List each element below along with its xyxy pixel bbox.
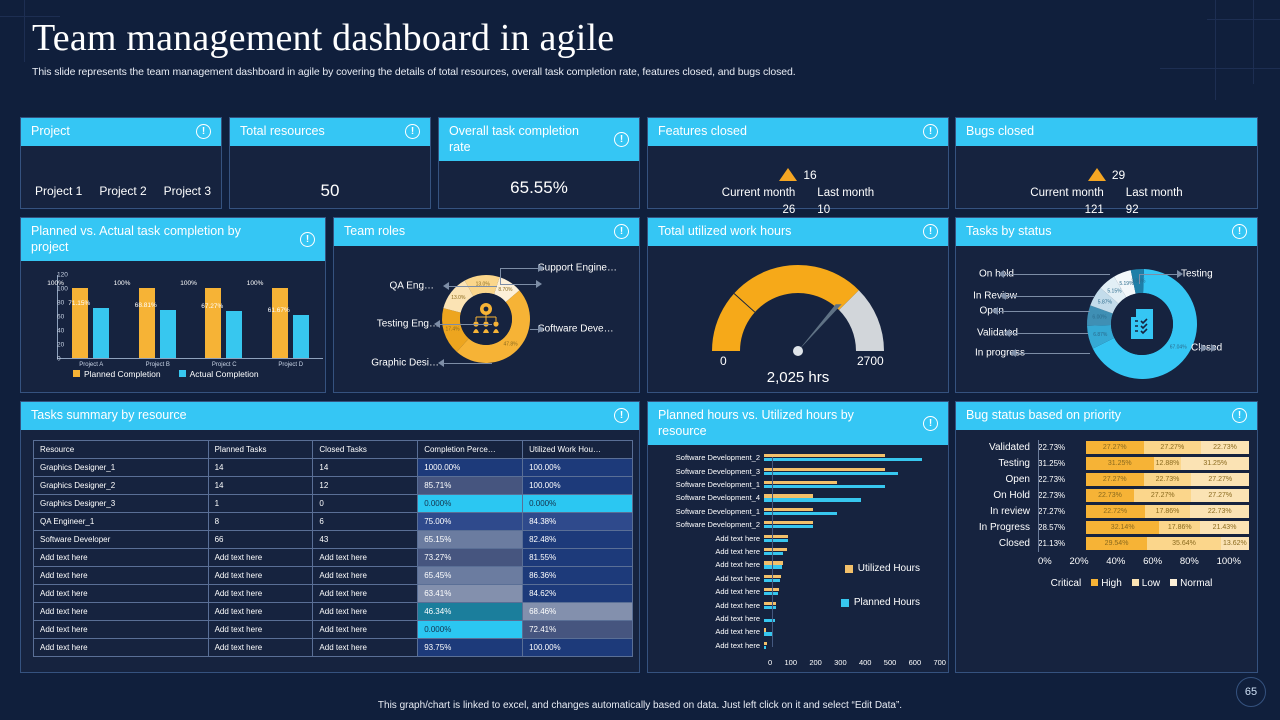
hbar-planned: [764, 458, 922, 461]
planned-vs-actual-chart: Project AProject BProject CProject D Pla…: [21, 261, 325, 397]
bugs-current-label: Current month: [1030, 187, 1104, 199]
bugs-delta-value: 29: [1112, 168, 1125, 182]
table-cell: 1: [208, 494, 313, 512]
stacked-segment: 27.27%: [1134, 489, 1192, 502]
table-cell: 1000.00%: [418, 458, 523, 476]
stacked-segment: 35.64%: [1147, 537, 1221, 550]
table-cell: 65.15%: [418, 530, 523, 548]
hbar-bars: [764, 467, 934, 476]
hbar-category-label: Add text here: [656, 627, 764, 636]
hbar-category-label: Add text here: [656, 614, 764, 623]
hbar-category-label: Add text here: [656, 560, 764, 569]
hbar-planned: [764, 485, 885, 488]
stacked-segment: 22.73%: [1086, 489, 1134, 502]
kpi-card-completion-rate: Overall task completion rate ! 65.55%: [438, 117, 640, 209]
stacked-segment: 22.73%: [1201, 441, 1249, 454]
stacked-segment: 31.25%: [1086, 457, 1154, 470]
stacked-x-tick: 40%: [1106, 556, 1125, 567]
leader-line: [444, 363, 492, 364]
stacked-bar: 27.27%27.27%22.73%: [1086, 441, 1249, 454]
hbar-row: Add text here: [656, 641, 934, 650]
hbar-utilized: [764, 602, 776, 605]
table-cell: 0.000%: [523, 494, 633, 512]
completion-rate-value: 65.55%: [510, 178, 568, 198]
legend-item: Normal: [1170, 578, 1212, 589]
panel-tasks-summary-header: Tasks summary by resource !: [21, 402, 639, 430]
decorative-line-vertical-2: [1253, 0, 1254, 84]
hbar-utilized: [764, 561, 783, 564]
legend-item: Critical: [1051, 578, 1082, 589]
table-row[interactable]: Add text hereAdd text hereAdd text here6…: [34, 584, 633, 602]
stacked-segment: 21.43%: [1200, 521, 1249, 534]
hbar-bars: [764, 628, 934, 637]
table-row[interactable]: Add text hereAdd text hereAdd text here0…: [34, 620, 633, 638]
kpi-card-completion-rate-body: 65.55%: [439, 161, 639, 215]
stacked-bar: 32.14%17.86%21.43%: [1086, 521, 1249, 534]
kpi-card-bugs-closed-title: Bugs closed: [966, 124, 1034, 140]
table-row[interactable]: Software Developer664365.15%82.48%: [34, 530, 633, 548]
hbar-planned: [764, 619, 775, 622]
panel-tasks-summary-title: Tasks summary by resource: [31, 408, 187, 424]
stacked-category-label: Closed: [962, 538, 1038, 549]
kpi-card-features-closed-title: Features closed: [658, 124, 747, 140]
bar-value-label: 100%: [247, 280, 264, 287]
kpi-card-project-title: Project: [31, 124, 70, 140]
table-row[interactable]: Graphics Designer_3100.000%0.000%: [34, 494, 633, 512]
bug-status-chart: Validated22.73%27.27%27.27%22.73%Testing…: [956, 430, 1257, 670]
hbar-planned: [764, 552, 783, 555]
team-roles-donut: 8.70%47.8%17.4%13.0%13.0%Support Engine……: [334, 246, 639, 396]
stacked-row: Open22.73%27.27%22.73%27.27%: [962, 472, 1249, 487]
hbar-row: Add text here: [656, 574, 934, 583]
team-icon: [460, 293, 512, 345]
table-column-header[interactable]: Utilized Work Hou…: [523, 440, 633, 458]
project-item[interactable]: Project 1: [35, 184, 82, 198]
stacked-segment: 27.27%: [1086, 473, 1144, 486]
project-item[interactable]: Project 3: [164, 184, 211, 198]
table-cell: Add text here: [34, 548, 209, 566]
table-cell: 14: [208, 458, 313, 476]
panel-planned-vs-actual-header: Planned vs. Actual task completion by pr…: [21, 218, 325, 261]
panel-tasks-by-status: Tasks by status ! 67.04%6.87%6.00%5.87%5…: [955, 217, 1258, 393]
hbar-row: Software Development_2: [656, 453, 934, 462]
panel-planned-vs-actual-title: Planned vs. Actual task completion by pr…: [31, 224, 271, 255]
bar-planned: [272, 288, 288, 358]
leader-line: [1006, 296, 1094, 297]
gauge-min-label: 0: [720, 354, 727, 368]
leader-line: [449, 286, 497, 287]
panel-utilized-hours-title: Total utilized work hours: [658, 224, 791, 240]
bar-chart-area: Project AProject BProject CProject D Pla…: [33, 271, 329, 381]
hbar-x-axis: 0100200300400500600700: [768, 658, 946, 667]
label-software-developer: Software Deve…: [538, 323, 614, 334]
info-icon[interactable]: !: [405, 124, 420, 139]
hbar-bars: [764, 534, 934, 543]
leader-line: [440, 324, 492, 325]
stacked-x-tick: 80%: [1180, 556, 1199, 567]
page-number-badge: 65: [1236, 677, 1266, 707]
table-column-header[interactable]: Closed Tasks: [313, 440, 418, 458]
hbar-x-tick: 500: [884, 658, 897, 667]
table-row[interactable]: Add text hereAdd text hereAdd text here9…: [34, 638, 633, 656]
table-cell: Add text here: [34, 602, 209, 620]
stacked-critical-label: 22.73%: [1038, 475, 1086, 484]
table-row[interactable]: Add text hereAdd text hereAdd text here7…: [34, 548, 633, 566]
stacked-x-tick: 60%: [1143, 556, 1162, 567]
info-icon[interactable]: !: [196, 124, 211, 139]
donut-value-label: 13.0%: [451, 295, 466, 301]
legend-actual: Actual Completion: [179, 369, 259, 379]
label-testing: Testing: [1181, 268, 1213, 279]
table-row[interactable]: Graphics Designer_114141000.00%100.00%: [34, 458, 633, 476]
features-compare-row: Current month 26 Last month 10: [648, 185, 948, 220]
info-icon[interactable]: !: [1232, 408, 1247, 423]
table-cell: Add text here: [34, 638, 209, 656]
leader-arrow: [998, 270, 1004, 278]
table-cell: 100.00%: [523, 476, 633, 494]
hbar-category-label: Add text here: [656, 601, 764, 610]
hbar-planned: [764, 498, 861, 501]
hbar-planned: [764, 539, 788, 542]
label-testing-engineer: Testing Eng…: [377, 318, 439, 329]
stacked-category-label: Validated: [962, 442, 1038, 453]
hbar-x-tick: 300: [834, 658, 847, 667]
panel-planned-vs-utilized-header: Planned hours vs. Utilized hours by reso…: [648, 402, 948, 445]
table-cell: 81.55%: [523, 548, 633, 566]
leader-line: [1016, 353, 1090, 354]
table-cell: 84.38%: [523, 512, 633, 530]
decorative-line-horizontal-1: [1207, 19, 1280, 20]
tasks-summary-table[interactable]: ResourcePlanned TasksClosed TasksComplet…: [33, 440, 633, 657]
stacked-segment: 27.27%: [1191, 489, 1249, 502]
donut-value-label: 5.87%: [1098, 299, 1113, 305]
table-row[interactable]: Add text hereAdd text hereAdd text here4…: [34, 602, 633, 620]
leader-arrow: [443, 282, 449, 290]
panel-team-roles: Team roles ! 8.70%47.8%17.4%13.0%13.0%Su…: [333, 217, 640, 393]
page-title: Team management dashboard in agile: [32, 16, 614, 60]
panel-tasks-by-status-header: Tasks by status !: [956, 218, 1257, 246]
hbar-x-tick: 0: [768, 658, 772, 667]
features-last-month: Last month 10: [817, 185, 874, 220]
table-row[interactable]: Graphics Designer_2141285.71%100.00%: [34, 476, 633, 494]
hbar-utilized: [764, 468, 885, 471]
panel-planned-vs-utilized-title: Planned hours vs. Utilized hours by reso…: [658, 408, 903, 439]
hbar-category-label: Software Development_1: [656, 480, 764, 489]
leader-line: [1010, 333, 1088, 334]
bugs-compare-row: Current month 121 Last month 92: [956, 185, 1257, 220]
info-icon[interactable]: !: [923, 124, 938, 139]
hbar-bars: [764, 574, 934, 583]
panel-utilized-hours-header: Total utilized work hours !: [648, 218, 948, 246]
stacked-x-tick: 0%: [1038, 556, 1052, 567]
table-column-header[interactable]: Completion Perce…: [418, 440, 523, 458]
info-icon[interactable]: !: [614, 132, 629, 147]
hbar-row: Add text here: [656, 587, 934, 596]
stacked-segment: 22.72%: [1086, 505, 1145, 518]
bar-planned: [72, 288, 88, 358]
bar-category-label: Project A: [79, 362, 103, 368]
donut-value-label: 17.4%: [445, 326, 460, 332]
kpi-card-bugs-closed-header: Bugs closed !: [956, 118, 1257, 146]
horizontal-bar-chart: Software Development_2Software Developme…: [656, 453, 940, 669]
stacked-category-label: In Progress: [962, 522, 1038, 533]
gauge-chart: 027002,025 hrs: [648, 246, 948, 392]
bar-chart-y-tick: 120: [57, 272, 60, 279]
stacked-row: Validated22.73%27.27%27.27%22.73%: [962, 440, 1249, 455]
table-cell: Graphics Designer_1: [34, 458, 209, 476]
table-cell: Software Developer: [34, 530, 209, 548]
table-cell: Add text here: [34, 566, 209, 584]
bar-actual: [226, 311, 242, 358]
hbar-bars: [764, 587, 934, 596]
leader-arrow: [1004, 329, 1010, 337]
info-icon[interactable]: !: [614, 224, 629, 239]
kpi-card-features-closed: Features closed ! 16 Current month 26 La…: [647, 117, 949, 209]
table-cell: 66: [208, 530, 313, 548]
hbar-category-label: Add text here: [656, 547, 764, 556]
stacked-category-label: In review: [962, 506, 1038, 517]
hbar-x-tick: 400: [859, 658, 872, 667]
stacked-x-tick: 100%: [1217, 556, 1241, 567]
hbar-category-label: Software Development_4: [656, 493, 764, 502]
table-cell: Add text here: [313, 638, 418, 656]
hbar-row: Add text here: [656, 614, 934, 623]
up-arrow-icon: [779, 168, 797, 181]
stacked-segment: 32.14%: [1086, 521, 1159, 534]
legend-item: Low: [1132, 578, 1160, 589]
bar-chart-y-tick: 80: [57, 300, 60, 307]
page-subtitle: This slide represents the team managemen…: [32, 66, 1032, 78]
hbar-x-tick: 200: [809, 658, 822, 667]
hbar-utilized: [764, 481, 837, 484]
kpi-card-completion-rate-title: Overall task completion rate: [449, 124, 599, 155]
kpi-card-total-resources: Total resources ! 50: [229, 117, 431, 209]
bar-value-label: 61.67%: [268, 307, 290, 314]
table-cell: Graphics Designer_3: [34, 494, 209, 512]
legend-label: Planned Hours: [854, 597, 920, 608]
legend-swatch: [841, 599, 849, 607]
hbar-category-label: Add text here: [656, 587, 764, 596]
hbar-row: Software Development_3: [656, 467, 934, 476]
stacked-segment: 27.27%: [1144, 441, 1202, 454]
bar-chart-y-tick: 20: [57, 342, 60, 349]
leader-arrow: [434, 320, 440, 328]
bar-value-label: 71.15%: [68, 300, 90, 307]
stacked-row: Testing31.25%31.25%12.88%31.25%: [962, 456, 1249, 471]
table-cell: 43: [313, 530, 418, 548]
bugs-current-month: Current month 121: [1030, 185, 1104, 220]
info-icon[interactable]: !: [923, 416, 938, 431]
table-cell: Add text here: [208, 566, 313, 584]
label-qa-engineer: QA Eng…: [390, 280, 434, 291]
bar-value-label: 100%: [114, 280, 131, 287]
table-column-header[interactable]: Planned Tasks: [208, 440, 313, 458]
decorative-line-vertical-1: [1215, 0, 1216, 100]
table-cell: 82.48%: [523, 530, 633, 548]
stacked-segment: 22.73%: [1144, 473, 1192, 486]
hbar-axis-line: [772, 457, 773, 647]
stacked-segment: 27.27%: [1086, 441, 1144, 454]
label-graphic-designer: Graphic Desi…: [371, 357, 439, 368]
hbar-bars: [764, 494, 934, 503]
hbar-row: Software Development_1: [656, 507, 934, 516]
table-cell: Add text here: [208, 638, 313, 656]
features-current-label: Current month: [722, 187, 796, 199]
table-cell: Add text here: [313, 602, 418, 620]
stacked-category-label: Open: [962, 474, 1038, 485]
stacked-bar: 22.73%27.27%27.27%: [1086, 489, 1249, 502]
table-cell: Add text here: [208, 620, 313, 638]
hbar-x-tick: 600: [909, 658, 922, 667]
gauge-area: 027002,025 hrs: [648, 246, 948, 392]
planned-vs-utilized-chart: Software Development_2Software Developme…: [648, 445, 948, 677]
bar-value-label: 68.81%: [135, 302, 157, 309]
leader-line: [530, 329, 538, 330]
panel-planned-vs-actual: Planned vs. Actual task completion by pr…: [20, 217, 326, 393]
bar-actual: [160, 310, 176, 358]
legend-swatch: [845, 565, 853, 573]
legend-swatch: [1132, 579, 1139, 586]
checklist-icon: [1111, 293, 1173, 355]
leader-line: [500, 268, 538, 269]
hbar-planned: [764, 646, 766, 649]
leader-arrow: [1000, 292, 1006, 300]
stacked-segment: 27.27%: [1191, 473, 1249, 486]
stacked-segment: 12.88%: [1154, 457, 1182, 470]
hbar-utilized: [764, 535, 788, 538]
table-cell: 14: [208, 476, 313, 494]
legend-label: Utilized Hours: [858, 563, 920, 574]
donut-value-label: 47.8%: [503, 341, 518, 347]
hbar-row: Software Development_1: [656, 480, 934, 489]
stacked-segment: 17.86%: [1145, 505, 1191, 518]
table-cell: Add text here: [313, 620, 418, 638]
hbar-utilized: [764, 642, 767, 645]
bar-value-label: 67.27%: [201, 303, 223, 310]
stacked-bar: 31.25%12.88%31.25%: [1086, 457, 1249, 470]
hbar-category-label: Software Development_3: [656, 467, 764, 476]
hbar-row: Add text here: [656, 534, 934, 543]
table-row[interactable]: QA Engineer_18675.00%84.38%: [34, 512, 633, 530]
stacked-row: In review27.27%22.72%17.86%22.73%: [962, 504, 1249, 519]
stacked-segment: 17.86%: [1159, 521, 1200, 534]
project-list: Project 1 Project 2 Project 3: [31, 184, 211, 198]
leader-arrow: [1177, 270, 1183, 278]
hbar-utilized: [764, 548, 787, 551]
hbar-legend-item: Planned Hours: [841, 597, 920, 608]
bar-group: [72, 288, 109, 358]
legend-label: Normal: [1180, 578, 1212, 589]
panel-tasks-by-status-title: Tasks by status: [966, 224, 1051, 240]
table-cell: Add text here: [313, 548, 418, 566]
stacked-axis-line: [1038, 440, 1039, 552]
panel-bug-status-title: Bug status based on priority: [966, 408, 1121, 424]
tasks-status-donut: 67.04%6.87%6.00%5.87%5.15%5.19%3.84%Test…: [956, 246, 1257, 392]
panel-planned-vs-utilized: Planned hours vs. Utilized hours by reso…: [647, 401, 949, 673]
hbar-bars: [764, 547, 934, 556]
info-icon[interactable]: !: [614, 408, 629, 423]
bar-planned: [139, 288, 155, 358]
gauge-value-label: 2,025 hrs: [767, 369, 830, 386]
legend-label: Critical: [1051, 578, 1082, 589]
table-cell: Add text here: [34, 620, 209, 638]
stacked-critical-label: 22.73%: [1038, 491, 1086, 500]
stacked-bar-chart: Validated22.73%27.27%27.27%22.73%Testing…: [962, 440, 1249, 664]
table-cell: Add text here: [208, 548, 313, 566]
table-header-row: ResourcePlanned TasksClosed TasksComplet…: [34, 440, 633, 458]
hbar-row: Software Development_4: [656, 493, 934, 502]
project-item[interactable]: Project 2: [99, 184, 146, 198]
hbar-planned: [764, 472, 898, 475]
hbar-row: Add text here: [656, 547, 934, 556]
table-cell: 68.46%: [523, 602, 633, 620]
total-resources-value: 50: [321, 181, 340, 201]
stacked-legend: CriticalHighLowNormal: [1022, 578, 1241, 589]
stacked-segment: 31.25%: [1181, 457, 1249, 470]
features-last-label: Last month: [817, 187, 874, 199]
stacked-x-tick: 20%: [1070, 556, 1089, 567]
panel-bug-status: Bug status based on priority ! Validated…: [955, 401, 1258, 673]
leader-arrow: [1010, 349, 1016, 357]
leader-line-vertical: [1139, 274, 1140, 284]
table-cell: 100.00%: [523, 458, 633, 476]
bar-actual: [93, 308, 109, 358]
info-icon[interactable]: !: [1232, 224, 1247, 239]
table-row[interactable]: Add text hereAdd text hereAdd text here6…: [34, 566, 633, 584]
stacked-critical-label: 28.57%: [1038, 523, 1086, 532]
bugs-last-label: Last month: [1126, 187, 1183, 199]
legend-swatch: [1091, 579, 1098, 586]
hbar-row: Add text here: [656, 627, 934, 636]
hbar-category-label: Software Development_2: [656, 453, 764, 462]
decorative-line-horizontal-2: [1160, 68, 1280, 69]
stacked-bar: 22.72%17.86%22.73%: [1086, 505, 1249, 518]
table-cell: 73.27%: [418, 548, 523, 566]
footer-note: This graph/chart is linked to excel, and…: [0, 700, 1280, 711]
kpi-card-bugs-closed: Bugs closed ! 29 Current month 121 Last …: [955, 117, 1258, 209]
table-cell: 0.000%: [418, 494, 523, 512]
hbar-row: Software Development_2: [656, 520, 934, 529]
hbar-bars: [764, 641, 934, 650]
panel-tasks-summary: Tasks summary by resource ! ResourcePlan…: [20, 401, 640, 673]
info-icon[interactable]: !: [300, 232, 315, 247]
table-cell: 100.00%: [523, 638, 633, 656]
hbar-x-tick: 700: [933, 658, 946, 667]
table-cell: Add text here: [313, 566, 418, 584]
hbar-planned: [764, 565, 782, 568]
legend-swatch: [1170, 579, 1177, 586]
hbar-bars: [764, 507, 934, 516]
gauge-hub: [793, 346, 803, 356]
tasks-summary-table-body: ResourcePlanned TasksClosed TasksComplet…: [21, 430, 639, 670]
hbar-x-tick: 100: [784, 658, 797, 667]
leader-line: [1004, 274, 1110, 275]
panel-team-roles-header: Team roles !: [334, 218, 639, 246]
leader-arrow: [538, 325, 544, 333]
info-icon[interactable]: !: [923, 224, 938, 239]
gauge-max-label: 2700: [857, 354, 884, 368]
table-column-header[interactable]: Resource: [34, 440, 209, 458]
table-cell: 0.000%: [418, 620, 523, 638]
bar-group: [205, 288, 242, 358]
table-cell: Add text here: [208, 584, 313, 602]
hbar-legend-item: Utilized Hours: [845, 563, 920, 574]
stacked-critical-label: 21.13%: [1038, 539, 1086, 548]
bugs-last-month: Last month 92: [1126, 185, 1183, 220]
panel-bug-status-header: Bug status based on priority !: [956, 402, 1257, 430]
stacked-row: Closed21.13%29.54%35.64%13.62%: [962, 536, 1249, 551]
kpi-card-total-resources-title: Total resources: [240, 124, 325, 140]
